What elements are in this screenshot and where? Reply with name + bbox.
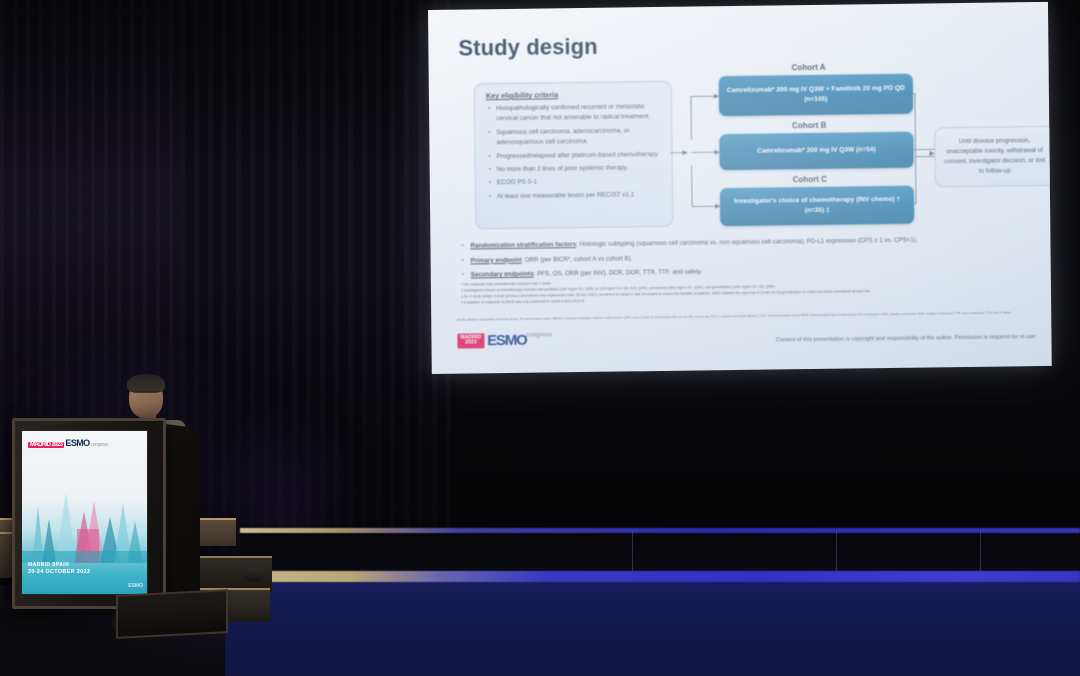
cohort-c-label: Cohort C [720, 174, 900, 185]
key-eligibility-criteria-box: Key eligibility criteria Histopathologic… [474, 81, 674, 230]
list-item: Progressed/relapsed after platinum-based… [496, 149, 662, 162]
stage-floor-monitor [116, 589, 228, 639]
podium-madrid-tag: MADRID 2023 [28, 442, 64, 448]
riser-seam [632, 531, 633, 571]
riser-seam [836, 531, 837, 571]
podium-banner-text: MADRID SPAIN 20-24 OCTOBER 2023 [28, 562, 90, 576]
stage-riser-band [240, 531, 1080, 571]
list-item: Randomization stratification factors: Hi… [470, 234, 1036, 251]
congress-word: congress [526, 332, 553, 338]
bullet-rest: : Histologic subtyping (squamous cell ca… [576, 237, 918, 248]
slide-title: Study design [458, 34, 598, 62]
bullet-rest: : PFS, OS, ORR (per INV), DCR, DOR, TTR,… [534, 269, 703, 278]
bullet-lead: Randomization stratification factors [470, 241, 576, 249]
conference-photo-scene: MADRID 2023 ESMO congress MADRID SPAIN 2… [0, 0, 1080, 676]
bullet-lead: Secondary endpoints [471, 271, 534, 279]
abbreviations-line: ECOG, Eastern Cooperative Oncology Group… [457, 310, 1037, 323]
podium-esmo-wordmark: ESMO [65, 438, 89, 448]
list-item: Squamous cell carcinoma, adenocarcinoma,… [496, 126, 662, 149]
podium-banner-dates: 20-24 OCTOBER 2023 [28, 569, 90, 576]
madrid-2023-badge: MADRID 2023 [457, 333, 484, 348]
cohort-b-box: Camrelizumab* 200 mg IV Q3W (n=54) [719, 132, 913, 171]
bullet-lead: Primary endpoint [471, 256, 522, 264]
list-item: Primary endpoint: ORR (per BICR*, cohort… [471, 249, 1037, 266]
esmo-wordmark: ESMO [487, 335, 527, 348]
cohort-a-box: Camrelizumab* 200 mg IV Q3W + Famitinib … [719, 74, 913, 117]
eligibility-list: Histopathologically confirmed recurrent … [475, 102, 672, 203]
cohort-b-label: Cohort B [719, 120, 899, 131]
cohort-c-box: Investigator's choice of chemotherapy (I… [720, 186, 914, 227]
led-strip-lower [240, 571, 1080, 582]
led-strip-upper [240, 528, 1080, 533]
riser-seam [980, 531, 981, 571]
madrid-badge-line2: 2023 [460, 341, 481, 347]
podium-esmo-logo: MADRID 2023 ESMO congress [28, 438, 108, 448]
projection-screen: Study design Key eligibility criteria Hi… [428, 2, 1052, 374]
list-item: Histopathologically confirmed recurrent … [496, 102, 662, 125]
speaker-glasses [131, 391, 161, 399]
bullet-rest: : ORR (per BICR*, cohort A vs cohort B). [521, 255, 632, 263]
cohort-a-label: Cohort A [719, 62, 899, 73]
list-item: At least one measurable lesion per RECIS… [497, 190, 663, 203]
eligibility-heading: Key eligibility criteria [475, 82, 671, 105]
podium-corner-mark: ESMO [128, 583, 143, 589]
podium-branding-panel: MADRID 2023 ESMO congress MADRID SPAIN 2… [21, 430, 148, 595]
podium-congress-word: congress [91, 442, 108, 448]
copyright-notice: Content of this presentation is copyrigh… [776, 334, 1036, 343]
madrid-skyline-graphic [22, 473, 147, 563]
treatment-duration-box: Until disease progression, unacceptable … [934, 126, 1052, 188]
slide-footer-logo: MADRID 2023 ESMO congress [457, 332, 552, 348]
list-item: No more than 2 lines of prior systemic t… [497, 163, 663, 176]
list-item: ECOG PS 0-1 [497, 176, 663, 189]
microphone [244, 568, 266, 582]
